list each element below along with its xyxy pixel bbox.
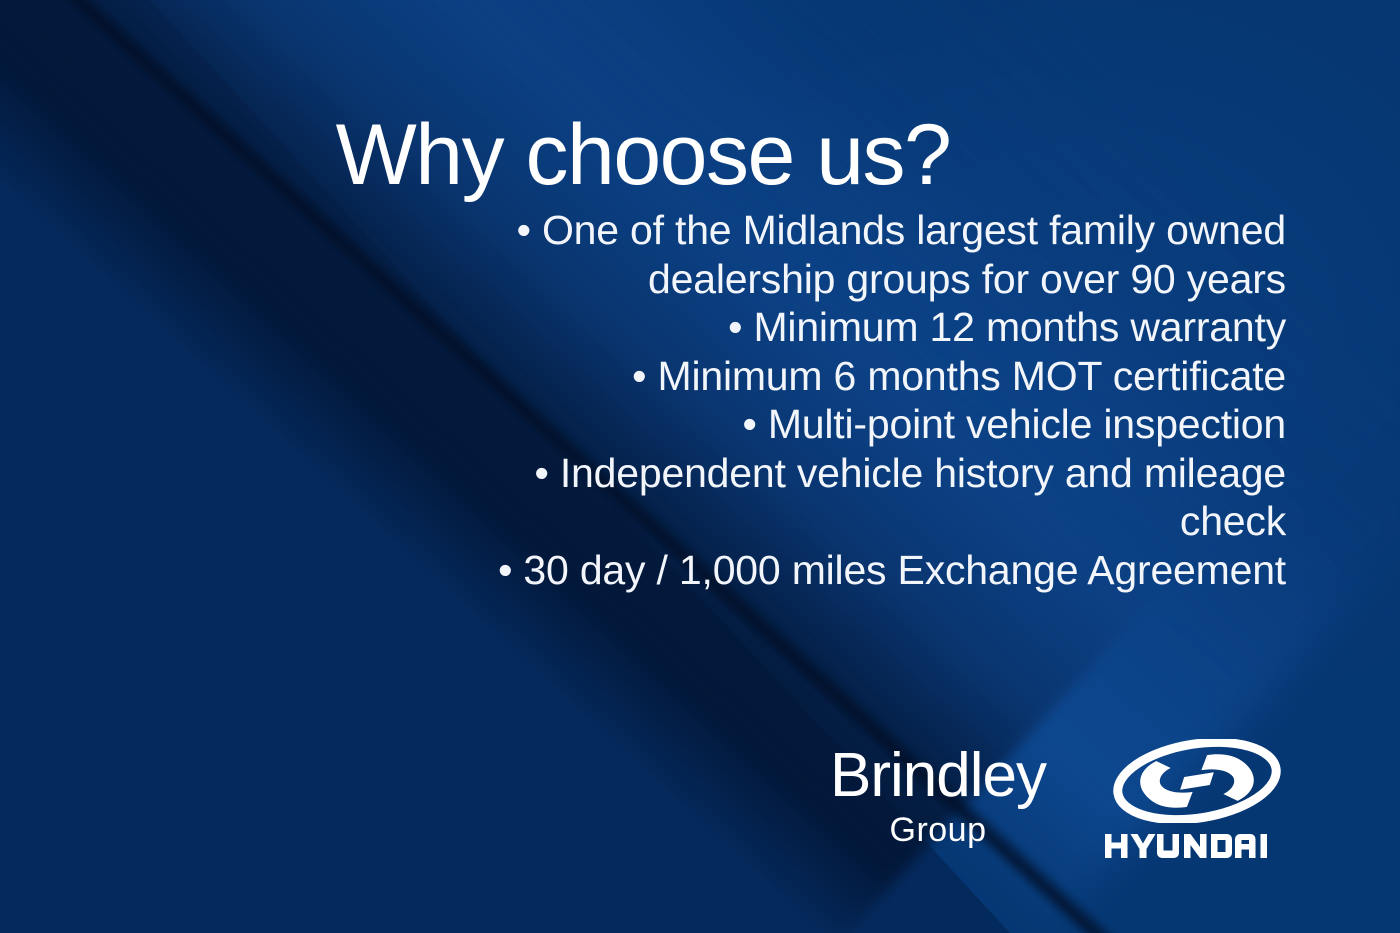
benefit-item: • Multi-point vehicle inspection	[466, 400, 1286, 449]
benefit-item: • Minimum 6 months MOT certificate	[466, 352, 1286, 401]
brindley-group-logo: Brindley Group	[830, 739, 1046, 847]
benefit-item: • One of the Midlands largest family own…	[466, 206, 1286, 303]
hyundai-logo	[1104, 739, 1290, 861]
benefit-item: • Minimum 12 months warranty	[466, 303, 1286, 352]
brindley-wordmark: Brindley	[830, 745, 1046, 807]
hyundai-h-emblem	[1105, 739, 1289, 823]
brindley-group-label: Group	[890, 813, 987, 847]
benefit-item: • Independent vehicle history and mileag…	[466, 449, 1286, 546]
slide-content: Why choose us? • One of the Midlands lar…	[0, 0, 1400, 933]
benefit-item: • 30 day / 1,000 miles Exchange Agreemen…	[466, 546, 1286, 595]
promo-slide: Why choose us? • One of the Midlands lar…	[0, 0, 1400, 933]
logo-lockup: Brindley Group	[830, 739, 1290, 861]
page-title: Why choose us?	[0, 110, 1286, 200]
hyundai-wordmark	[1104, 831, 1290, 861]
benefits-list: • One of the Midlands largest family own…	[466, 206, 1286, 594]
